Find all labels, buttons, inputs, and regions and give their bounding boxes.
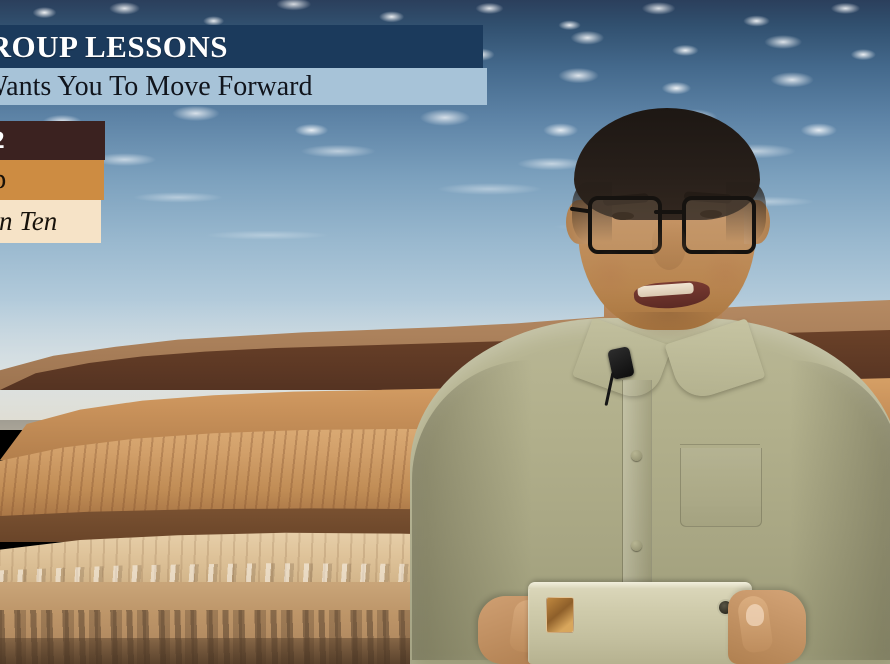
speaker-text: gan Ten bbox=[0, 206, 57, 237]
title-text: GROUP LESSONS bbox=[0, 29, 228, 65]
title-band-heading: Up bbox=[0, 160, 104, 200]
tablet-sticker bbox=[546, 597, 574, 633]
title-band-speaker: gan Ten bbox=[0, 200, 101, 243]
glasses-lens-right bbox=[682, 196, 756, 254]
heading-text: Up bbox=[0, 164, 6, 196]
subtitle-text: Wants You To Move Forward bbox=[0, 71, 313, 103]
title-band-lesson-number: n 2 bbox=[0, 121, 105, 160]
shirt-button-lower bbox=[631, 540, 642, 551]
lesson-number-text: n 2 bbox=[0, 127, 5, 155]
thumbnail-right bbox=[746, 604, 764, 626]
cheek-left bbox=[588, 250, 632, 302]
shirt-chest-pocket bbox=[680, 448, 762, 527]
chin-shadow bbox=[614, 312, 724, 342]
teeth bbox=[637, 282, 694, 297]
video-frame: GROUP LESSONS Wants You To Move Forward … bbox=[0, 0, 890, 664]
title-band-main: GROUP LESSONS bbox=[0, 25, 483, 68]
title-band-subtitle: Wants You To Move Forward bbox=[0, 68, 487, 105]
tablet-top-edge bbox=[528, 582, 752, 589]
glasses-lens-left bbox=[588, 196, 662, 254]
nose bbox=[652, 222, 686, 270]
shirt-button-upper bbox=[631, 450, 642, 461]
hand-right bbox=[728, 590, 806, 664]
glasses-bridge bbox=[654, 210, 684, 214]
